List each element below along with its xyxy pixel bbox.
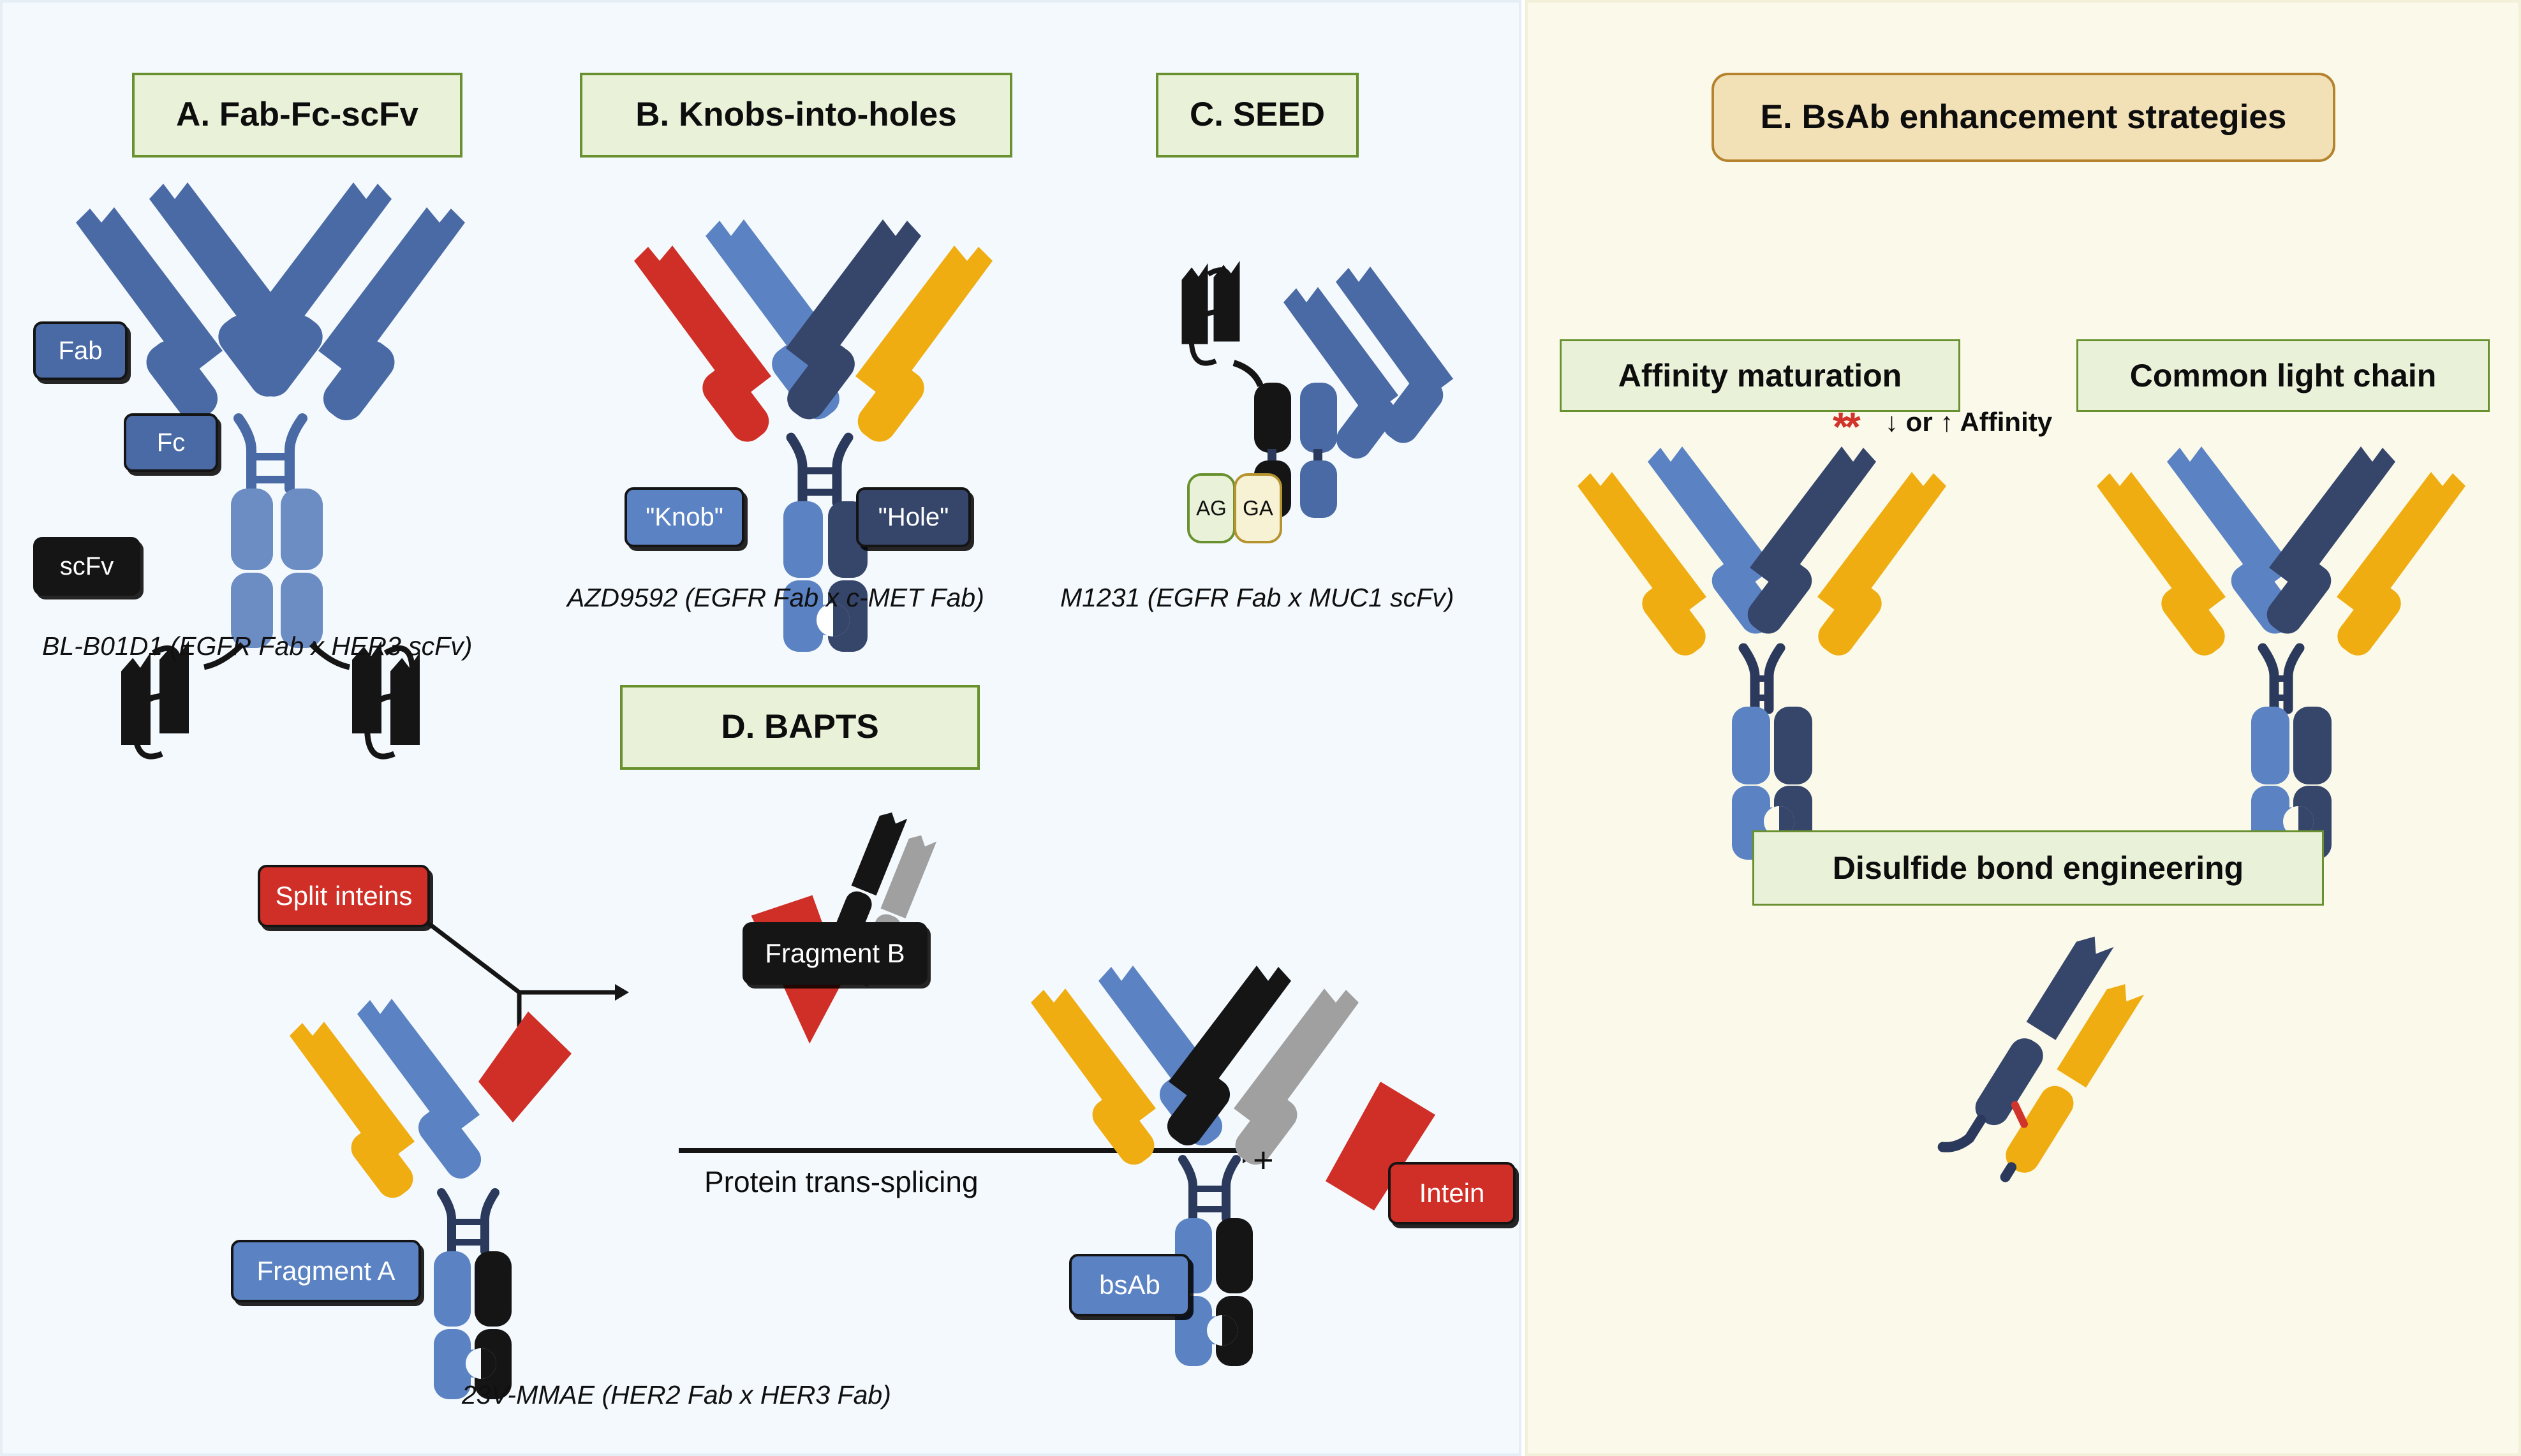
- legend-chip-scfv: scFv: [33, 537, 140, 596]
- common-light-chain-antibody-diagram: [2078, 431, 2486, 801]
- panel-c-title: C. SEED: [1156, 73, 1359, 158]
- left-panel-bsab-formats: A. Fab-Fc-scFv: [0, 0, 1521, 1456]
- panel-a-title: A. Fab-Fc-scFv: [132, 73, 462, 158]
- mutation-marker-asterisks: **: [1833, 403, 1857, 450]
- label-split-inteins: Split inteins: [258, 865, 430, 927]
- panel-d-fragment-a-diagram: [258, 978, 653, 1361]
- plus-sign-2: +: [1253, 1139, 1274, 1180]
- protein-trans-splicing-label: Protein trans-splicing: [704, 1165, 979, 1199]
- seed-domain-ga: GA: [1234, 473, 1282, 543]
- panel-c-caption: M1231 (EGFR Fab x MUC1 scFv): [1060, 583, 1454, 613]
- affinity-maturation-antibody-diagram: [1558, 431, 1967, 801]
- seed-domain-ag: AG: [1187, 473, 1236, 543]
- legend-chip-fc: Fc: [124, 413, 218, 472]
- panel-b-title: B. Knobs-into-holes: [580, 73, 1012, 158]
- legend-chip-hole: "Hole": [856, 487, 971, 547]
- panel-e-title: E. BsAb enhancement strategies: [1711, 73, 2335, 162]
- legend-chip-knob: "Knob": [625, 487, 744, 547]
- label-intein: Intein: [1388, 1162, 1516, 1224]
- panel-a-caption: BL-B01D1 (EGFR Fab x HER3 scFv): [42, 631, 472, 661]
- label-fragment-a: Fragment A: [231, 1240, 421, 1302]
- disulfide-bond-engineering-diagram: [1826, 921, 2235, 1278]
- right-panel-enhancement-strategies: E. BsAb enhancement strategies Affinity …: [1525, 0, 2521, 1456]
- label-bsab: bsAb: [1069, 1254, 1190, 1316]
- panel-d-title: D. BAPTS: [620, 685, 980, 770]
- strategy-title-disulfide-bond-engineering: Disulfide bond engineering: [1752, 830, 2324, 906]
- strategy-title-common-light-chain: Common light chain: [2076, 339, 2490, 412]
- panel-b-caption: AZD9592 (EGFR Fab x c-MET Fab): [567, 583, 984, 613]
- panel-d-caption: 23V-MMAE (HER2 Fab x HER3 Fab): [462, 1380, 891, 1410]
- strategy-title-affinity-maturation: Affinity maturation: [1560, 339, 1960, 412]
- legend-chip-fab: Fab: [33, 321, 128, 380]
- figure-canvas: A. Fab-Fc-scFv: [0, 0, 2521, 1456]
- affinity-annotation: ↓ or ↑ Affinity: [1885, 407, 2052, 438]
- label-fragment-b: Fragment B: [743, 922, 928, 985]
